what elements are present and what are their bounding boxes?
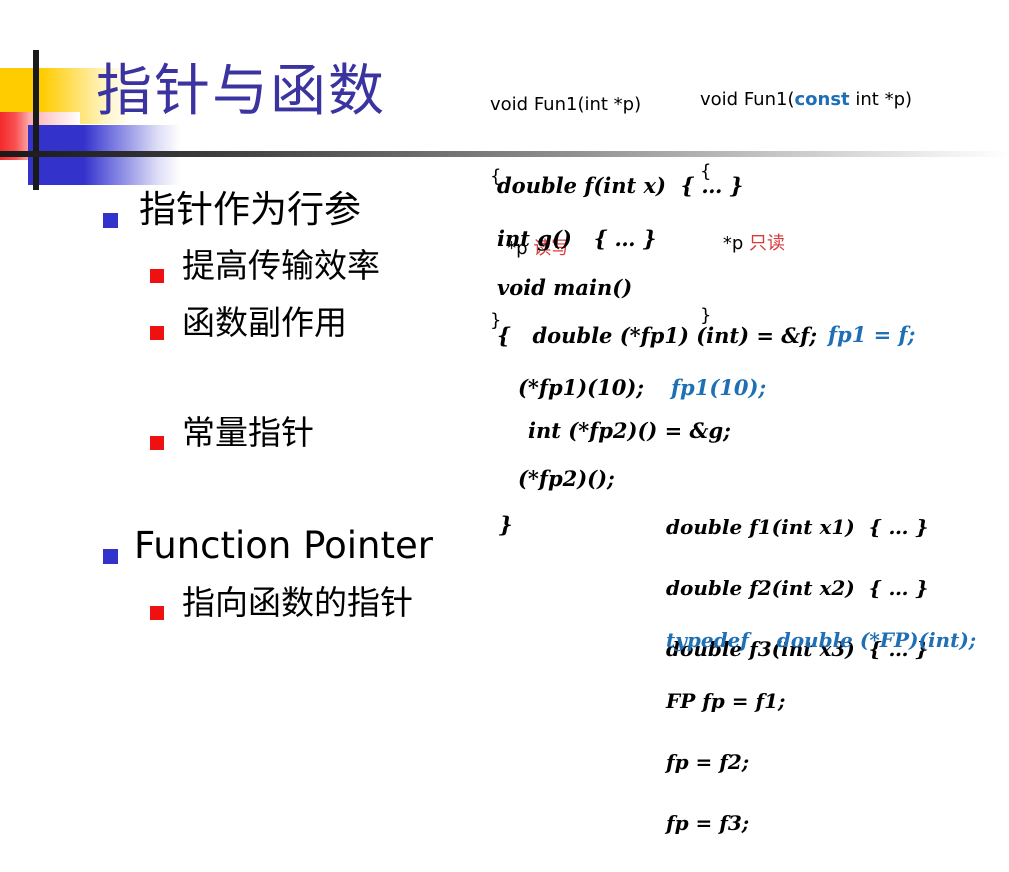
code-fragment: int *p)	[850, 89, 912, 110]
fp1-declaration-alt: fp1 = f;	[828, 324, 915, 345]
code-line: *p 只读	[700, 232, 912, 256]
typedef-block: typedef double (*FP)(int); FP fp = f1; f…	[666, 592, 976, 872]
code-fragment: *p	[700, 233, 749, 254]
declaration-main: void main()	[497, 277, 632, 298]
fp2-declaration: int (*fp2)() = &g;	[528, 420, 731, 441]
bullet-marker-level2	[150, 326, 164, 340]
slide-canvas: 指针与函数 指针作为行参 提高传输效率 函数副作用 常量指针 Function …	[0, 0, 1009, 720]
outline-label: 指针作为行参	[139, 191, 361, 228]
outline-label: 常量指针	[182, 416, 314, 449]
outline-label: Function Pointer	[134, 527, 433, 564]
outline-label: 提高传输效率	[182, 249, 380, 282]
bullet-marker-level2	[150, 606, 164, 620]
code-line: fp = f2;	[666, 750, 976, 775]
bullet-marker-level1	[103, 213, 118, 228]
main-close-brace: }	[499, 514, 513, 535]
code-line: double f1(int x1) { … }	[666, 515, 928, 540]
code-line: fp = f3;	[666, 811, 976, 836]
code-line: void Fun1(const int *p)	[700, 88, 912, 112]
outline-label: 函数副作用	[182, 306, 347, 339]
declaration-g: int g() { … }	[497, 228, 656, 249]
outline-list: 指针作为行参 提高传输效率 函数副作用 常量指针 Function Pointe…	[0, 0, 490, 720]
keyword-const: const	[794, 89, 849, 110]
bullet-marker-level2	[150, 436, 164, 450]
code-line: void Fun1(int *p)	[490, 93, 641, 117]
fp1-call: (*fp1)(10);	[518, 377, 644, 398]
code-fragment: void Fun1(	[700, 89, 794, 110]
code-line: FP fp = f1;	[666, 689, 976, 714]
fp1-declaration: { double (*fp1) (int) = &f;	[497, 325, 817, 346]
bullet-marker-level1	[103, 549, 118, 564]
bullet-marker-level2	[150, 269, 164, 283]
code-line-typedef: typedef double (*FP)(int);	[666, 628, 976, 653]
outline-label: 指向函数的指针	[182, 586, 413, 619]
fp2-call: (*fp2)();	[518, 468, 615, 489]
code-annotation: 只读	[749, 233, 785, 254]
declaration-f: double f(int x) { … }	[497, 175, 743, 196]
fp1-call-alt: fp1(10);	[671, 377, 766, 398]
